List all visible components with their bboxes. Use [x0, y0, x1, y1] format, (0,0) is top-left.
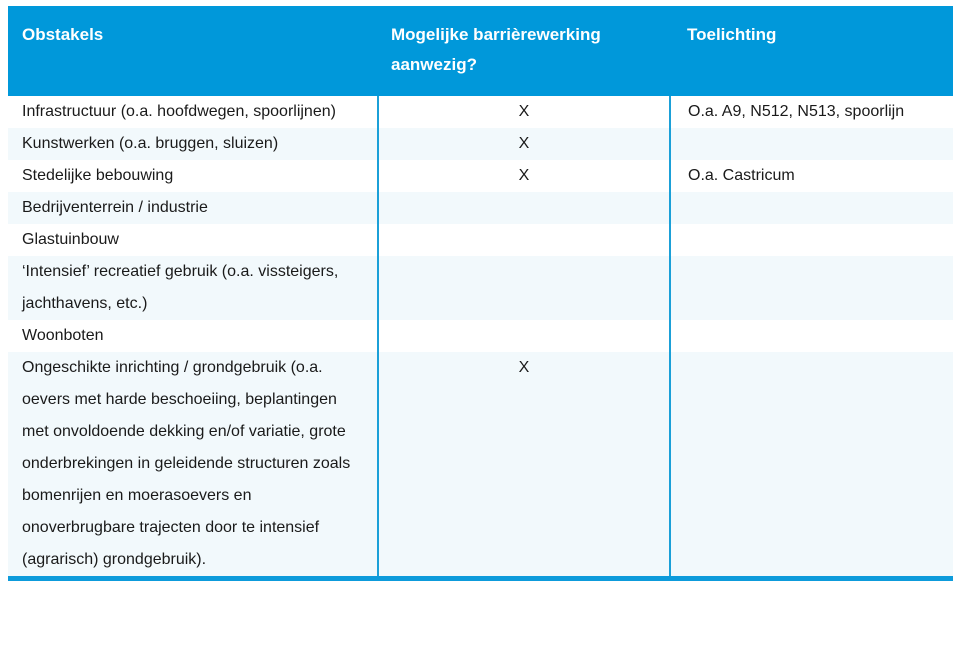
cell-toelichting: [670, 192, 953, 224]
cell-obstakel: Glastuinbouw: [8, 224, 378, 256]
cell-obstakel: Stedelijke bebouwing: [8, 160, 378, 192]
cell-barriere-empty: [378, 224, 670, 256]
cell-barriere-marked: X: [378, 160, 670, 192]
cell-barriere-empty: [378, 256, 670, 320]
cell-toelichting: [670, 320, 953, 352]
cell-toelichting: [670, 128, 953, 160]
cell-barriere-empty: [378, 320, 670, 352]
cell-obstakel: Bedrijventerrein / industrie: [8, 192, 378, 224]
table-row: Woonboten: [8, 320, 953, 352]
cell-barriere-marked: X: [378, 128, 670, 160]
cell-toelichting: O.a. Castricum: [670, 160, 953, 192]
table-row: Stedelijke bebouwingXO.a. Castricum: [8, 160, 953, 192]
column-header-toelichting: Toelichting: [670, 6, 953, 96]
table-row: Kunstwerken (o.a. bruggen, sluizen)X: [8, 128, 953, 160]
cell-toelichting: [670, 224, 953, 256]
cell-obstakel: Infrastructuur (o.a. hoofdwegen, spoorli…: [8, 96, 378, 128]
x-mark-icon: X: [519, 359, 530, 376]
cell-obstakel: Ongeschikte inrichting / grondgebruik (o…: [8, 352, 378, 579]
cell-barriere-marked: X: [378, 96, 670, 128]
cell-obstakel: Woonboten: [8, 320, 378, 352]
x-mark-icon: X: [519, 103, 530, 120]
cell-toelichting: O.a. A9, N512, N513, spoorlijn: [670, 96, 953, 128]
header-row: Obstakels Mogelijke barrièrewerking aanw…: [8, 6, 953, 96]
table-body: Infrastructuur (o.a. hoofdwegen, spoorli…: [8, 96, 953, 579]
cell-obstakel: Kunstwerken (o.a. bruggen, sluizen): [8, 128, 378, 160]
obstakels-table: Obstakels Mogelijke barrièrewerking aanw…: [8, 6, 953, 581]
table-row: Glastuinbouw: [8, 224, 953, 256]
x-mark-icon: X: [519, 135, 530, 152]
cell-toelichting: [670, 256, 953, 320]
table-header: Obstakels Mogelijke barrièrewerking aanw…: [8, 6, 953, 96]
cell-barriere-marked: X: [378, 352, 670, 579]
cell-toelichting: [670, 352, 953, 579]
table-row: Ongeschikte inrichting / grondgebruik (o…: [8, 352, 953, 579]
column-header-barrierewerking: Mogelijke barrièrewerking aanwezig?: [378, 6, 670, 96]
x-mark-icon: X: [519, 167, 530, 184]
obstakels-table-container: Obstakels Mogelijke barrièrewerking aanw…: [8, 6, 953, 581]
cell-barriere-empty: [378, 192, 670, 224]
table-row: Bedrijventerrein / industrie: [8, 192, 953, 224]
table-row: ‘Intensief’ recreatief gebruik (o.a. vis…: [8, 256, 953, 320]
column-header-obstakels: Obstakels: [8, 6, 378, 96]
cell-obstakel: ‘Intensief’ recreatief gebruik (o.a. vis…: [8, 256, 378, 320]
table-row: Infrastructuur (o.a. hoofdwegen, spoorli…: [8, 96, 953, 128]
